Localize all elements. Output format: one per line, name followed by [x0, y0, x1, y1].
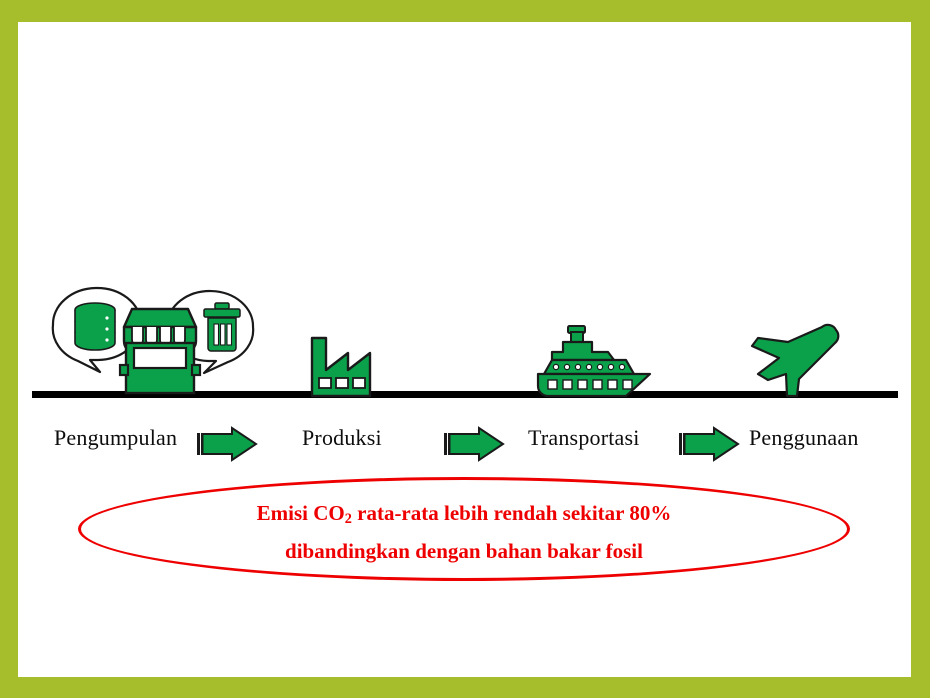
stage-label-pengumpulan: Pengumpulan	[54, 425, 177, 451]
right-arrow-icon	[197, 428, 256, 460]
border-frame-left	[0, 0, 18, 698]
border-frame-bottom	[0, 677, 930, 698]
stage-label-transportasi: Transportasi	[528, 425, 640, 451]
stage-icon-produksi	[304, 322, 404, 398]
stage-icon-penggunaan	[740, 322, 850, 400]
right-arrow-icon	[444, 428, 503, 460]
airplane-icon	[752, 325, 838, 396]
co2-subscript: 2	[345, 511, 352, 527]
factory-icon	[312, 338, 370, 396]
border-frame-right	[911, 0, 930, 698]
flow-arrow-3	[678, 426, 740, 462]
flow-arrow-2	[443, 426, 505, 462]
right-arrow-icon	[679, 428, 738, 460]
stage-icon-pengumpulan	[28, 277, 278, 397]
border-frame-top	[0, 0, 930, 22]
stage-label-produksi: Produksi	[302, 425, 382, 451]
flow-arrow-1	[196, 426, 258, 462]
trash-bin-icon	[204, 303, 240, 351]
callout-line-1: Emisi CO2 rata-rata lebih rendah sekitar…	[78, 497, 850, 535]
callout-line-1-prefix: Emisi CO	[257, 501, 345, 525]
store-icon	[120, 309, 200, 393]
callout-line-2: dibandingkan dengan bahan bakar fosil	[78, 535, 850, 567]
callout-line-1-suffix: rata-rata lebih rendah sekitar 80%	[352, 501, 671, 525]
emission-callout: Emisi CO2 rata-rata lebih rendah sekitar…	[78, 477, 850, 581]
stage-label-penggunaan: Penggunaan	[749, 425, 859, 451]
database-barrel-icon	[75, 303, 115, 350]
stage-icon-transportasi	[530, 322, 660, 400]
diagram-area: Pengumpulan Produksi Transportasi Penggu…	[18, 22, 911, 677]
callout-text: Emisi CO2 rata-rata lebih rendah sekitar…	[78, 497, 850, 567]
ship-icon	[538, 326, 650, 396]
slide-canvas: Pengumpulan Produksi Transportasi Penggu…	[0, 0, 930, 698]
